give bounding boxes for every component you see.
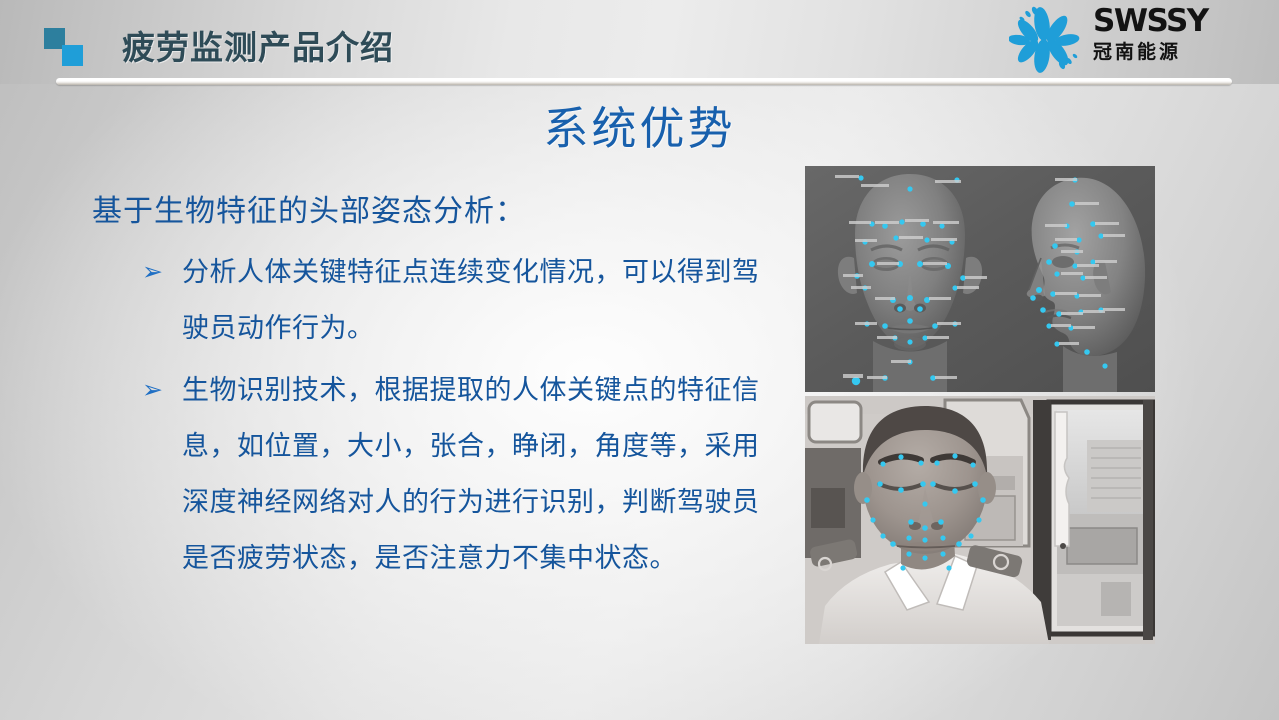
- header-divider-rule: [56, 78, 1232, 85]
- list-item-label: 生物识别技术，根据提取的人体关键点的特征信息，如位置，大小，张合，睁闭，角度等，…: [182, 362, 782, 586]
- company-logo: SWSSY 冠南能源: [1009, 2, 1267, 76]
- body-lead-text: 基于生物特征的头部姿态分析：: [92, 192, 782, 232]
- list-item-label: 分析人体关键特征点连续变化情况，可以得到驾驶员动作行为。: [182, 244, 782, 356]
- header-title: 疲劳监测产品介绍: [122, 21, 394, 69]
- face-landmark-3d-model-image: [805, 166, 1155, 392]
- slide-title: 系统优势: [0, 92, 1279, 157]
- slide-body-content: 基于生物特征的头部姿态分析： ➢ 分析人体关键特征点连续变化情况，可以得到驾驶员…: [92, 192, 782, 586]
- driver-cab-face-landmark-photo: [805, 396, 1155, 644]
- slide-header: 疲劳监测产品介绍: [0, 0, 1279, 84]
- list-item: ➢ 分析人体关键特征点连续变化情况，可以得到驾驶员动作行为。: [92, 244, 782, 356]
- header-decoration-square-light: [62, 45, 83, 66]
- logo-wordmark: SWSSY: [1093, 4, 1263, 38]
- logo-subtitle: 冠南能源: [1093, 40, 1263, 66]
- presentation-slide: 疲劳监测产品介绍: [0, 0, 1279, 720]
- arrow-bullet-icon: ➢: [92, 362, 182, 418]
- arrow-bullet-icon: ➢: [92, 244, 182, 300]
- water-droplet-flower-emblem-icon: [1009, 4, 1083, 76]
- list-item: ➢ 生物识别技术，根据提取的人体关键点的特征信息，如位置，大小，张合，睁闭，角度…: [92, 362, 782, 586]
- logo-text-block: SWSSY 冠南能源: [1093, 4, 1263, 66]
